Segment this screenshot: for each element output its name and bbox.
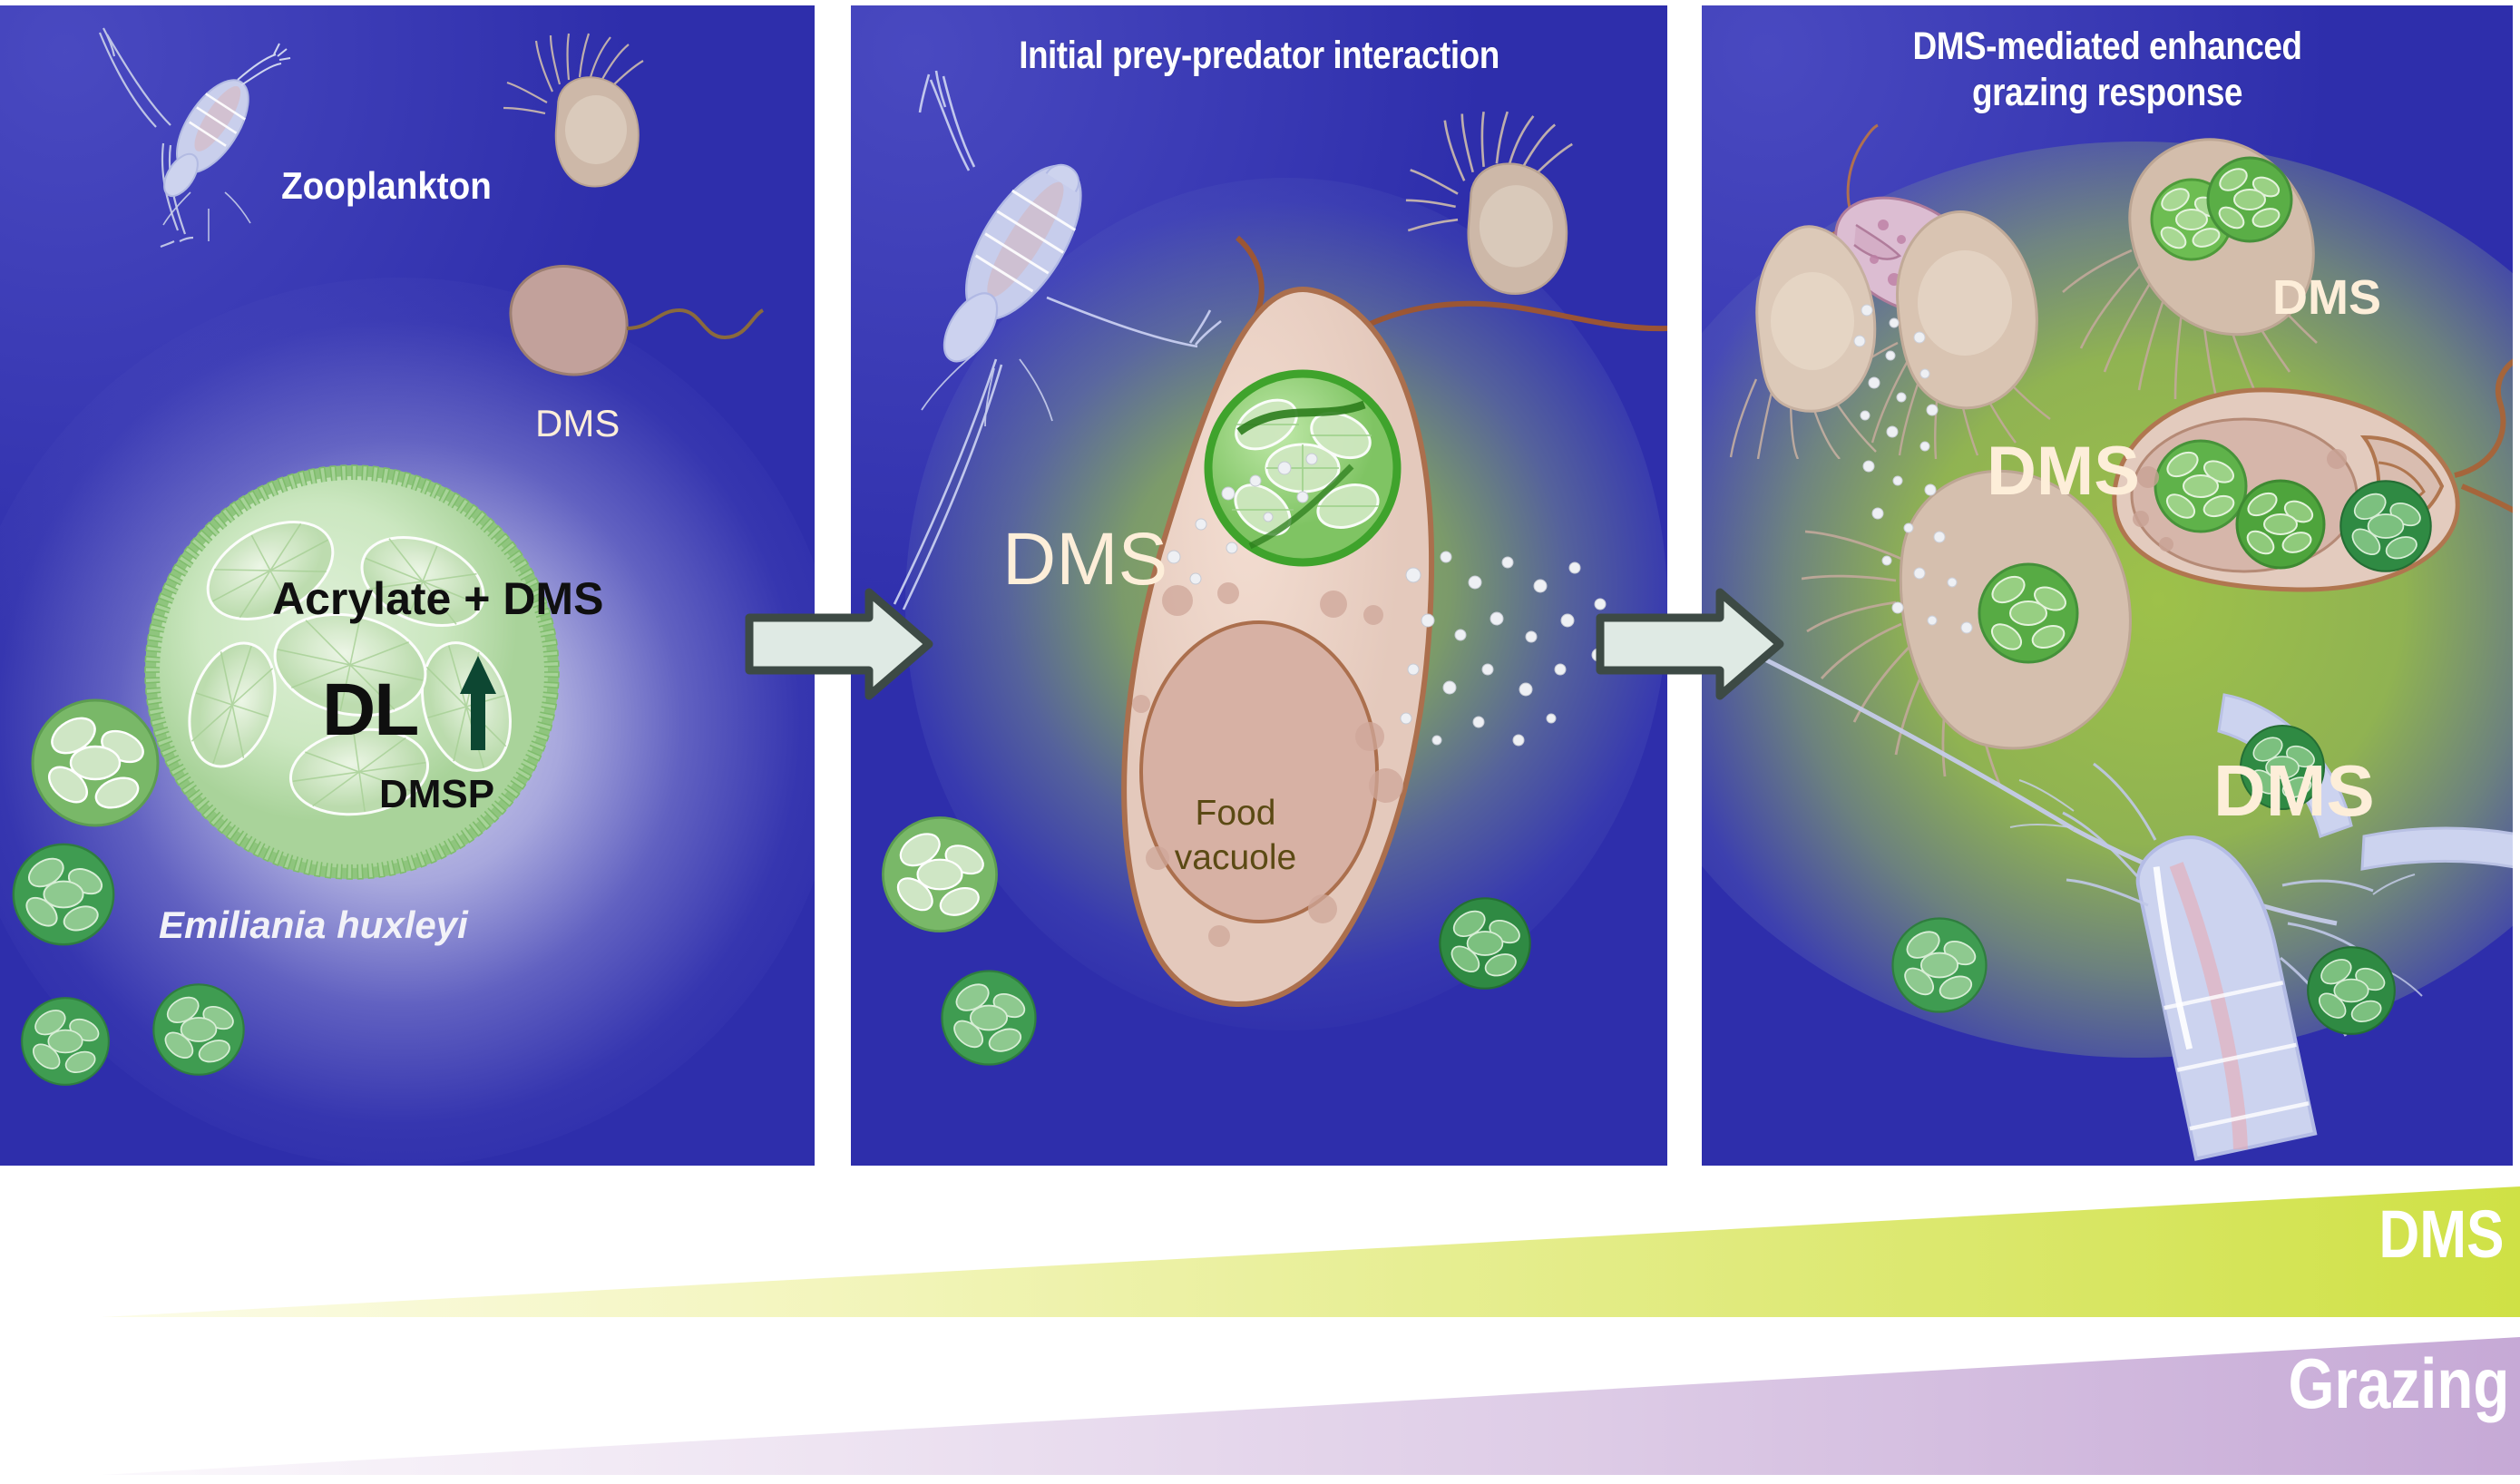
dmsp-label: DMSP [379, 772, 494, 817]
dms-label-panel-3-mid: DMS [1987, 432, 2140, 511]
ciliate-illustration [494, 28, 685, 219]
copepod-illustration [73, 24, 336, 250]
acrylate-dms-label: Acrylate + DMS [272, 572, 603, 625]
panel-3-title: DMS-mediated enhanced grazing response [1759, 24, 2457, 115]
upward-arrow-icon [458, 654, 498, 752]
coccolithophore-small [1889, 914, 1990, 1016]
dms-label-panel-3-low: DMS [2213, 749, 2375, 833]
coccolithophore-small [878, 813, 1001, 936]
species-label-emiliania-huxleyi: Emiliania huxleyi [159, 903, 468, 947]
dms-label-panel-1: DMS [535, 402, 620, 445]
coccolithophore-small [1436, 894, 1534, 992]
grazing-gradient-bar [0, 1324, 2520, 1484]
zooplankton-label: Zooplankton [281, 164, 492, 208]
figure-canvas: Zooplankton DMS Acrylate + DMS DL DMSP E… [0, 0, 2520, 1484]
coccolithophore-small [938, 967, 1040, 1069]
dms-label-panel-2: DMS [1002, 517, 1167, 602]
panel-1: Zooplankton DMS Acrylate + DMS DL DMSP E… [0, 5, 815, 1166]
dms-label-panel-3-top: DMS [2272, 269, 2381, 326]
dl-label: DL [322, 668, 417, 753]
coccolithophore-small [18, 994, 112, 1089]
flow-arrow-right-icon [1595, 585, 1785, 703]
coccolithophore-small [2304, 943, 2398, 1038]
dms-particles-panel-2 [1141, 441, 1649, 822]
dms-gradient-bar [0, 1179, 2520, 1324]
coccolithophore-small [150, 981, 248, 1079]
coccolithophore-small [2337, 477, 2435, 575]
coccolithophore-small [9, 840, 118, 949]
panel-3 [1702, 5, 2513, 1166]
flow-arrow-right-icon [744, 585, 934, 703]
dinoflagellate-illustration [494, 250, 767, 395]
food-vacuole-label: Food vacuole [1154, 792, 1317, 881]
dms-gradient-label: DMS [2378, 1196, 2504, 1273]
panel-2-title: Initial prey-predator interaction [908, 33, 1610, 79]
grazing-gradient-label: Grazing [2288, 1342, 2509, 1425]
coccolithophore-small [27, 695, 163, 831]
panel-2 [851, 5, 1667, 1166]
